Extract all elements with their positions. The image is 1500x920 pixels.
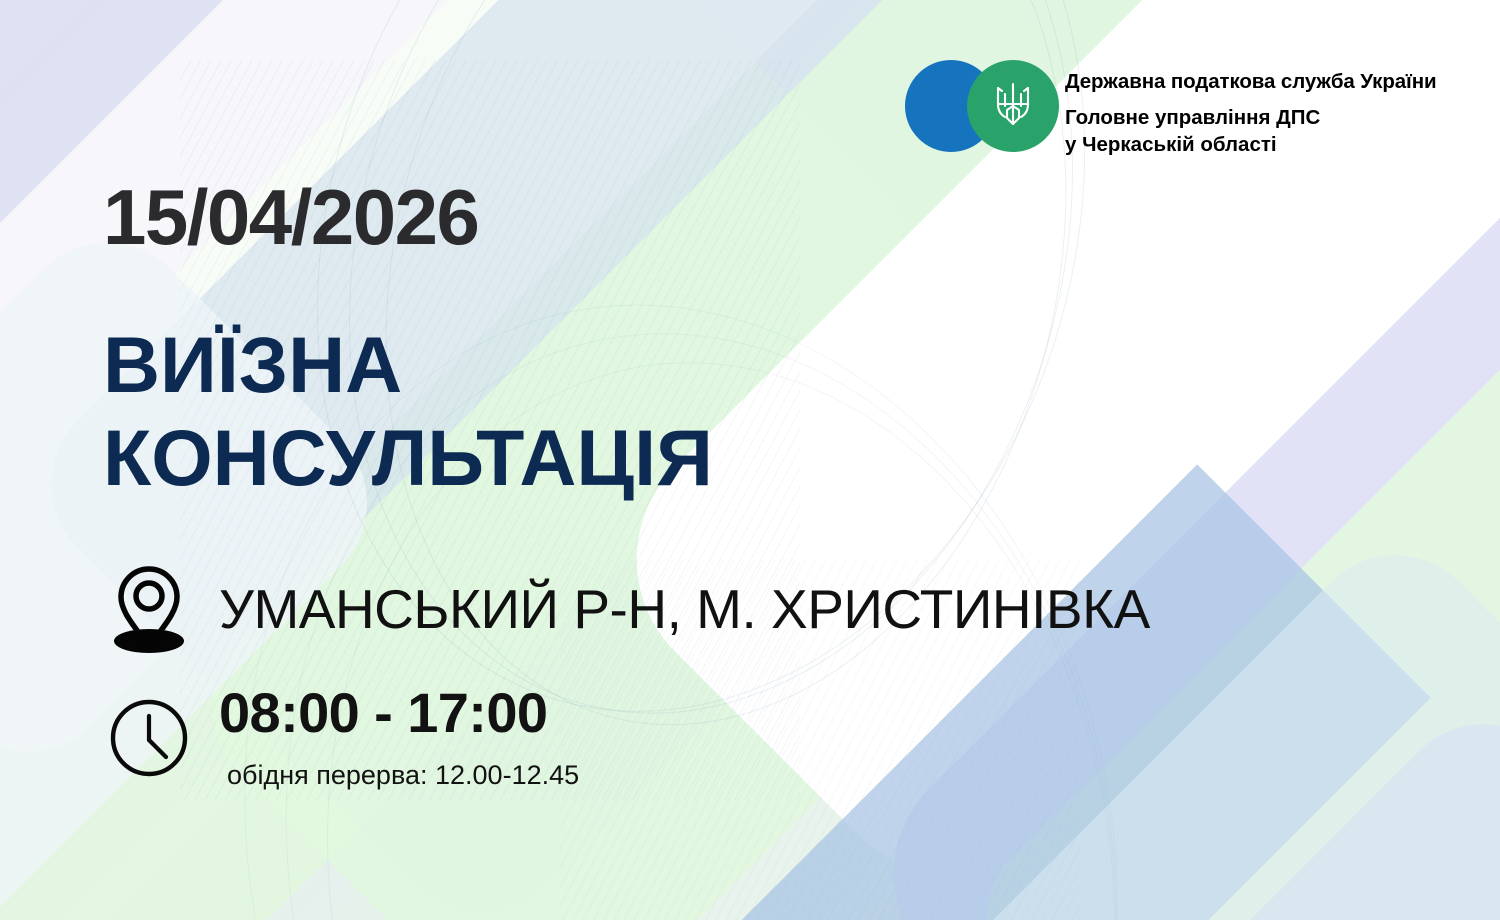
- time-row: 08:00 - 17:00 обідня перерва: 12.00-12.4…: [103, 685, 579, 791]
- green-circle-icon: [967, 60, 1059, 152]
- logo-marks: [905, 60, 1053, 152]
- ukraine-trident-icon: [993, 80, 1033, 132]
- time-icon-box: [103, 697, 195, 779]
- time-details: 08:00 - 17:00 обідня перерва: 12.00-12.4…: [219, 685, 579, 791]
- background-ribbon-blue-2: [847, 687, 1500, 920]
- page-title: ВИЇЗНА КОНСУЛЬТАЦІЯ: [103, 318, 713, 504]
- organization-text: Державна податкова служба України Головн…: [1053, 60, 1437, 158]
- location-text: УМАНСЬКИЙ Р-Н, М. ХРИСТИНІВКА: [219, 577, 1150, 641]
- org-name-line-1: Державна податкова служба України: [1065, 68, 1437, 95]
- headline-line-2: КОНСУЛЬТАЦІЯ: [103, 411, 713, 504]
- announcement-banner: Державна податкова служба України Головн…: [0, 0, 1500, 920]
- clock-icon: [108, 697, 190, 779]
- location-icon-box: [103, 563, 195, 655]
- map-pin-icon: [111, 563, 187, 655]
- lunch-break-text: обідня перерва: 12.00-12.45: [227, 760, 579, 791]
- event-date: 15/04/2026: [103, 172, 478, 263]
- organization-logo-block: Державна податкова служба України Головн…: [905, 60, 1437, 158]
- org-name-line-2: Головне управління ДПС: [1065, 104, 1437, 131]
- location-row: УМАНСЬКИЙ Р-Н, М. ХРИСТИНІВКА: [103, 563, 1150, 655]
- time-range-text: 08:00 - 17:00: [219, 685, 579, 741]
- headline-line-1: ВИЇЗНА: [103, 320, 402, 409]
- org-name-line-3: у Черкаській області: [1065, 131, 1437, 158]
- background-ribbon-blue-3: [1031, 761, 1500, 920]
